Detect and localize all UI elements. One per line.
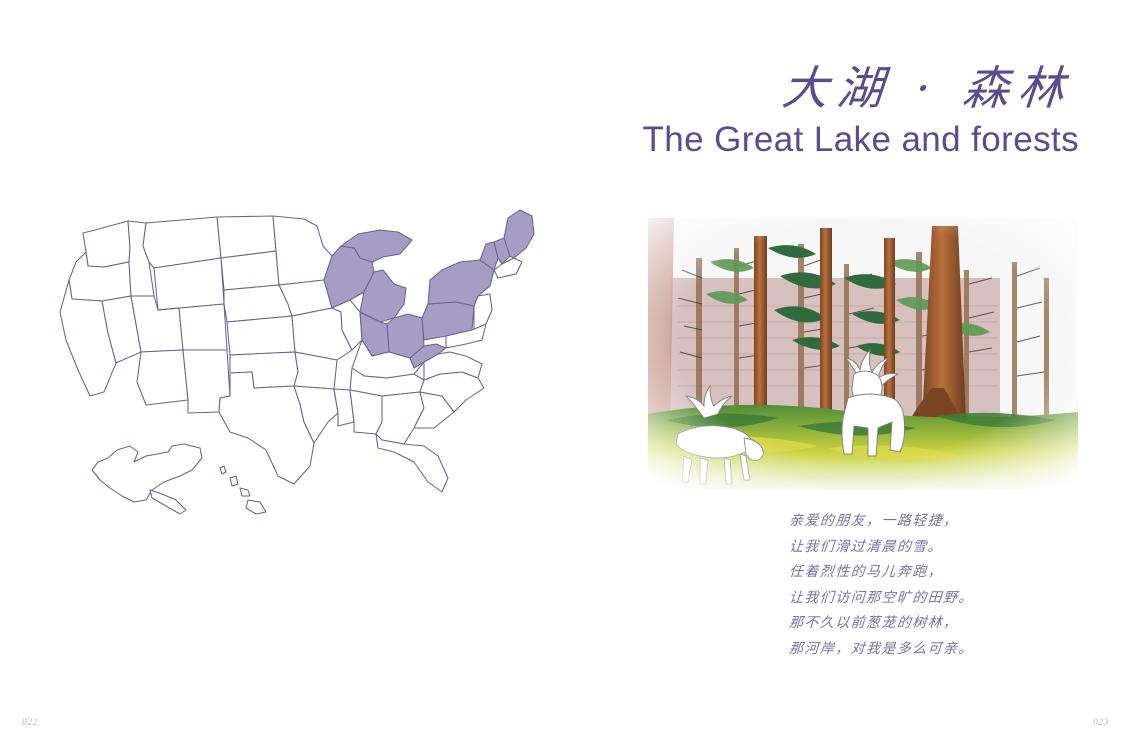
forest-illustration bbox=[648, 218, 1078, 490]
poem-line: 那不久以前葱茏的树林， bbox=[788, 611, 1090, 637]
page-title-english: The Great Lake and forests bbox=[559, 121, 1079, 160]
poem-line: 那河岸，对我是多么可亲。 bbox=[788, 637, 1090, 663]
poem-line: 亲爱的朋友，一路轻捷， bbox=[788, 509, 1090, 535]
map-states bbox=[60, 210, 534, 514]
poem-block: 亲爱的朋友，一路轻捷， 让我们滑过清晨的雪。 任着烈性的马儿奔跑， 让我们访问那… bbox=[789, 509, 1089, 662]
page-heading: 大湖 · 森林 The Great Lake and forests bbox=[559, 62, 1079, 159]
united-states-map bbox=[42, 200, 542, 535]
poem-line: 让我们访问那空旷的田野。 bbox=[788, 586, 1090, 612]
page-number-right: 023 bbox=[1093, 718, 1109, 728]
book-spread: 大湖 · 森林 The Great Lake and forests bbox=[0, 0, 1131, 750]
page-number-left: 022 bbox=[22, 718, 38, 728]
poem-line: 让我们滑过清晨的雪。 bbox=[788, 535, 1090, 561]
page-title-chinese: 大湖 · 森林 bbox=[557, 62, 1082, 115]
illustration-art bbox=[648, 218, 1078, 490]
poem-line: 任着烈性的马儿奔跑， bbox=[788, 560, 1090, 586]
